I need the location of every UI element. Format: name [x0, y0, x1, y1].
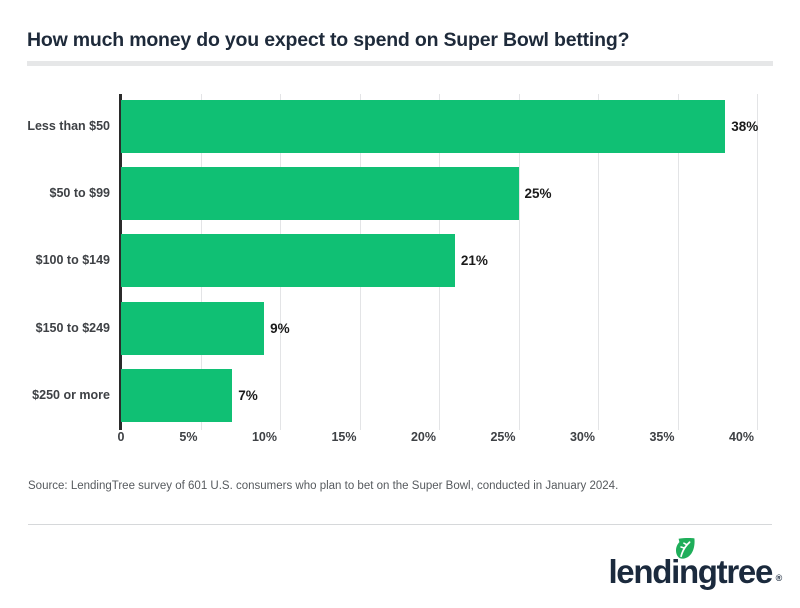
x-tick-10pct: 10%: [252, 430, 280, 444]
leaf-icon: [676, 538, 695, 560]
category-label-3: $100 to $149: [0, 234, 110, 287]
page-title: How much money do you expect to spend on…: [27, 29, 629, 52]
x-tick-5pct: 5%: [179, 430, 200, 444]
plot-area: 38%25%21%9%7%: [121, 94, 757, 430]
bar-value-label: 38%: [725, 100, 758, 153]
bar: [121, 234, 455, 287]
y-axis-category-labels: Less than $50$50 to $99$100 to $149$150 …: [0, 94, 110, 430]
bar: [121, 302, 264, 355]
category-label-2: $50 to $99: [0, 167, 110, 220]
category-label-5: $250 or more: [0, 369, 110, 422]
x-tick-15pct: 15%: [331, 430, 359, 444]
bar: [121, 100, 725, 153]
title-divider: [27, 61, 773, 66]
category-label-1: Less than $50: [0, 100, 110, 153]
bar-value-label: 21%: [455, 234, 488, 287]
chart-page: How much money do you expect to spend on…: [0, 0, 800, 608]
bar-value-label: 9%: [264, 302, 290, 355]
trademark-symbol: ®: [776, 560, 781, 596]
x-tick-40pct: 40%: [729, 430, 757, 444]
x-tick-0: 0: [118, 430, 125, 444]
x-tick-30pct: 30%: [570, 430, 598, 444]
bar-value-label: 7%: [232, 369, 258, 422]
x-tick-25pct: 25%: [490, 430, 518, 444]
bar: [121, 167, 519, 220]
logo-wordmark-text: lendingtree ®: [608, 554, 772, 590]
lendingtree-logo[interactable]: lendingtree ®: [608, 548, 772, 590]
x-tick-35pct: 35%: [649, 430, 677, 444]
bar-value-label: 25%: [519, 167, 552, 220]
x-axis-tick-labels: 05%10%15%20%25%30%35%40%: [0, 430, 800, 452]
category-label-4: $150 to $249: [0, 302, 110, 355]
source-note: Source: LendingTree survey of 601 U.S. c…: [28, 480, 618, 492]
footer-divider: [28, 524, 772, 525]
x-tick-20pct: 20%: [411, 430, 439, 444]
bar: [121, 369, 232, 422]
